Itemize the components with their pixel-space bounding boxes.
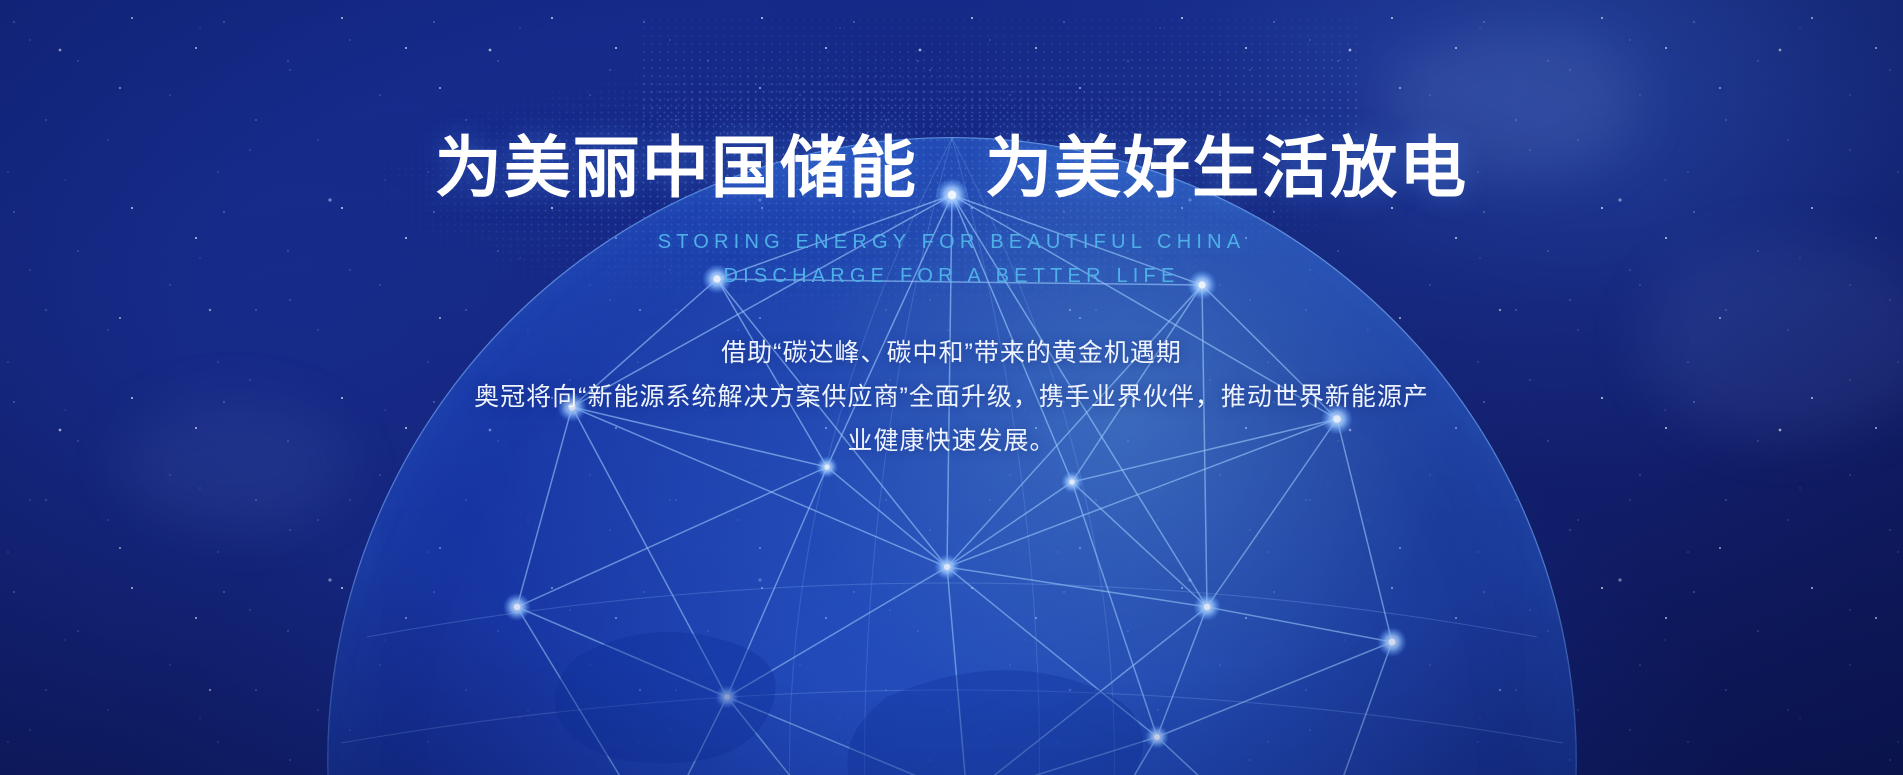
body-line-2: 奥冠将向“新能源系统解决方案供应商”全面升级，携手业界伙伴，推动世界新能源产 (0, 375, 1903, 419)
subtitle-line-1: STORING ENERGY FOR BEAUTIFUL CHINA (0, 226, 1903, 260)
headline-part-1: 为美丽中国储能 (435, 131, 918, 206)
banner-body-text: 借助“碳达峰、碳中和”带来的黄金机遇期 奥冠将向“新能源系统解决方案供应商”全面… (0, 331, 1903, 463)
hero-banner: 为美丽中国储能 为美好生活放电 STORING ENERGY FOR BEAUT… (0, 0, 1903, 775)
banner-subtitle: STORING ENERGY FOR BEAUTIFUL CHINA DISCH… (0, 226, 1903, 293)
body-line-3: 业健康快速发展。 (0, 419, 1903, 463)
subtitle-line-2: DISCHARGE FOR A BETTER LIFE (0, 260, 1903, 294)
body-line-1: 借助“碳达峰、碳中和”带来的黄金机遇期 (0, 331, 1903, 375)
banner-content: 为美丽中国储能 为美好生活放电 STORING ENERGY FOR BEAUT… (0, 0, 1903, 463)
banner-headline: 为美丽中国储能 为美好生活放电 (0, 133, 1903, 204)
headline-part-2: 为美好生活放电 (985, 131, 1468, 206)
